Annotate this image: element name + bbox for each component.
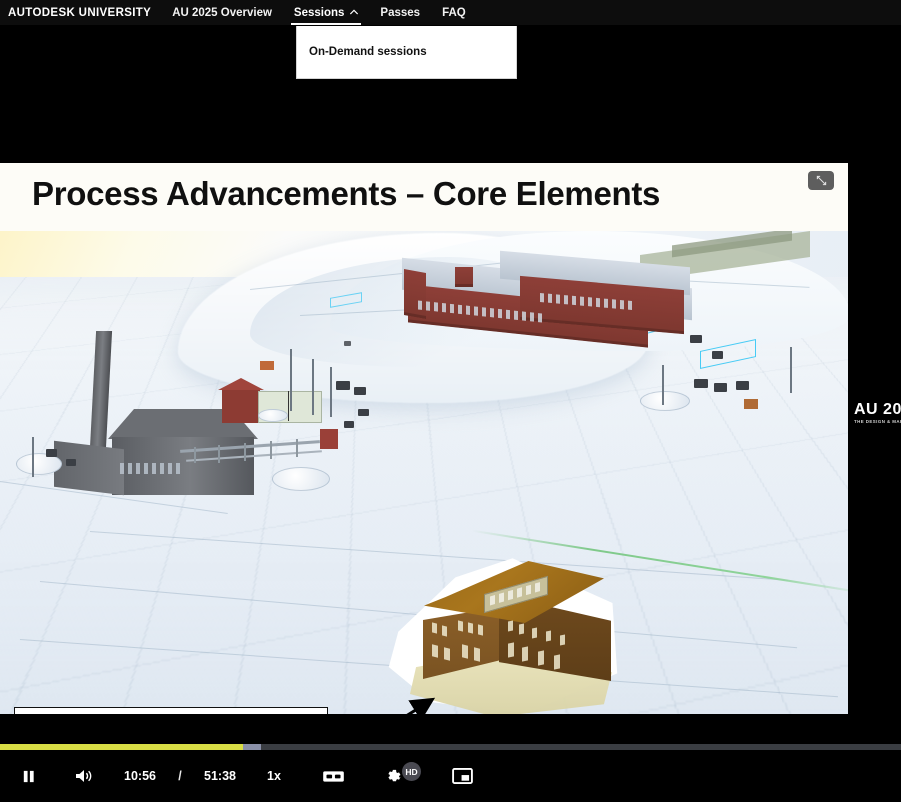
utility-pole	[32, 437, 34, 477]
volume-icon	[74, 768, 94, 784]
equipment-unit	[344, 341, 351, 346]
pumping-station-window	[444, 647, 450, 660]
watermark-tagline: THE DESIGN & MAKE CONFERENCE	[854, 419, 901, 424]
equipment-unit	[354, 387, 366, 395]
nav-item-label: Passes	[380, 7, 420, 19]
expand-arrows-icon[interactable]	[808, 171, 834, 190]
pumping-station-window	[442, 625, 447, 636]
clarifier-tank	[640, 391, 690, 411]
hd-quality-badge: HD	[402, 762, 421, 781]
utility-pole	[330, 367, 332, 417]
closed-captions-icon	[322, 769, 345, 784]
menu-item-on-demand-sessions[interactable]: On-Demand sessions	[297, 46, 427, 58]
equipment-unit	[714, 383, 727, 392]
equipment-unit	[66, 459, 76, 466]
time-display: 10:56 / 51:38	[112, 769, 248, 783]
pipe-trestle-leg	[270, 441, 272, 459]
pause-button[interactable]	[0, 750, 56, 802]
brand-logo-autodesk-university[interactable]: AUTODESK UNIVERSITY	[0, 7, 161, 19]
au-2025-watermark-strip: AU 2025 THE DESIGN & MAKE CONFERENCE	[848, 163, 901, 714]
watermark-au-2025: AU 2025	[854, 401, 901, 419]
pipe-trestle-leg	[244, 443, 246, 461]
callout-box-pumping-station: Raw & Finished Water Pumping Station Mov…	[14, 707, 328, 714]
equipment-unit	[694, 379, 708, 388]
brick-complex-tower	[455, 267, 473, 287]
utility-pole	[790, 347, 792, 393]
brick-complex-annex	[404, 269, 426, 319]
captions-button[interactable]	[300, 750, 366, 802]
plant-wing	[54, 441, 124, 496]
utility-pole	[662, 365, 664, 405]
small-red-structure	[320, 429, 338, 449]
miniplayer-button[interactable]	[432, 750, 492, 802]
top-navigation-bar: AUTODESK UNIVERSITY AU 2025 Overview Ses…	[0, 0, 901, 25]
pumping-station-window	[468, 622, 473, 633]
nav-item-faq[interactable]: FAQ	[431, 0, 477, 25]
video-player[interactable]: Process Advancements – Core Elements	[0, 81, 901, 721]
pause-icon	[21, 769, 36, 784]
nav-item-passes[interactable]: Passes	[369, 0, 431, 25]
pumping-station-window	[508, 642, 514, 657]
settings-button[interactable]: HD	[366, 750, 432, 802]
site-3d-model-render: Raw & Finished Water Pumping Station Mov…	[0, 231, 848, 714]
chevron-up-icon	[349, 7, 358, 16]
callout-pointer-arrow	[326, 689, 446, 714]
nav-item-au-2025-overview[interactable]: AU 2025 Overview	[161, 0, 283, 25]
current-time: 10:56	[112, 769, 168, 783]
equipment-unit	[344, 421, 354, 428]
pumping-station-window	[474, 647, 480, 661]
pumping-station-window	[554, 654, 560, 669]
pumping-station-window	[532, 627, 537, 638]
time-separator: /	[168, 769, 192, 783]
playback-speed-button[interactable]: 1x	[248, 769, 300, 783]
nav-item-label: AU 2025 Overview	[172, 7, 272, 19]
utility-pole	[290, 349, 292, 411]
equipment-unit	[712, 351, 723, 359]
pipe-trestle-leg	[194, 447, 196, 463]
plant-window-row	[120, 463, 180, 474]
gear-icon	[384, 767, 403, 786]
pumping-station-window	[519, 623, 524, 634]
equipment-unit	[358, 409, 369, 416]
sessions-dropdown-menu: On-Demand sessions	[296, 26, 517, 79]
volume-button[interactable]	[56, 750, 112, 802]
slide-title: Process Advancements – Core Elements	[32, 175, 792, 213]
total-duration: 51:38	[192, 769, 248, 783]
small-red-house	[222, 389, 260, 423]
pumping-station-window	[462, 644, 468, 658]
clarifier-tank	[258, 409, 288, 422]
pumping-station-window	[546, 630, 551, 641]
picture-in-picture-icon	[452, 768, 473, 784]
equipment-unit	[690, 335, 702, 343]
nav-item-sessions[interactable]: Sessions	[283, 0, 370, 25]
clarifier-tank	[272, 467, 330, 491]
equipment-unit	[736, 381, 749, 390]
video-control-bar: 10:56 / 51:38 1x HD	[0, 750, 901, 802]
small-red-structure	[744, 399, 758, 409]
equipment-unit	[336, 381, 350, 390]
pumping-station-window	[432, 622, 437, 633]
pumping-station-window	[478, 624, 483, 635]
pumping-station-window	[458, 620, 463, 631]
pumping-station-window	[560, 634, 565, 645]
small-red-structure	[260, 361, 274, 370]
nav-item-label: FAQ	[442, 7, 466, 19]
pumping-station-window	[538, 650, 544, 665]
equipment-unit	[46, 449, 57, 457]
pipe-trestle-leg	[218, 445, 220, 463]
utility-pole	[312, 359, 314, 415]
pipe-trestle-leg	[296, 439, 298, 457]
nav-item-label: Sessions	[294, 7, 345, 19]
utility-enclosure-divider	[288, 391, 289, 421]
pumping-station-window	[508, 620, 513, 631]
pumping-station-window	[522, 646, 528, 661]
pumping-station-window	[432, 644, 438, 657]
presentation-slide: Process Advancements – Core Elements	[0, 163, 848, 714]
